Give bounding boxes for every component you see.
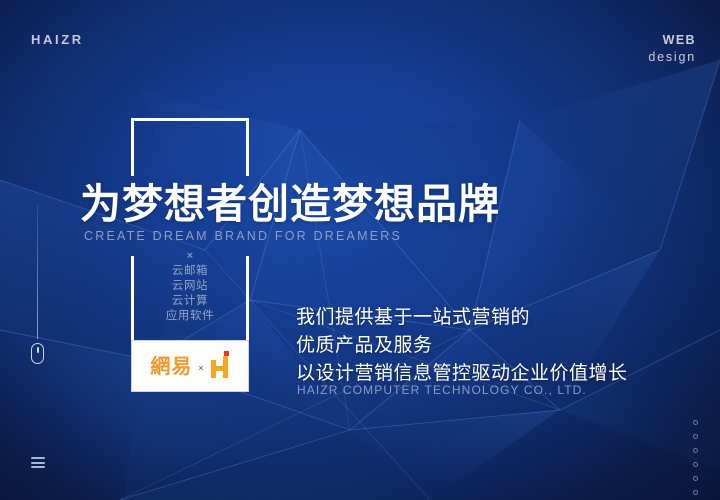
pagination-dot[interactable] (693, 490, 698, 495)
pagination-dot[interactable] (693, 476, 698, 481)
cross-divider-icon: × (182, 250, 198, 262)
frame-top-edge (131, 118, 249, 121)
netease-wordmark: 網易 (150, 356, 192, 376)
sidebar-item-cloud-site[interactable]: 云网站 (131, 279, 249, 294)
page-subtitle: CREATE DREAM BRAND FOR DREAMERS (84, 229, 402, 243)
page-title: 为梦想者创造梦想品牌 (80, 181, 500, 227)
sidebar-item-app-software[interactable]: 应用软件 (131, 309, 249, 324)
pagination-dots (693, 420, 698, 495)
pagination-dot[interactable] (693, 462, 698, 467)
header-tagline-line2: design (648, 49, 696, 66)
frame-right-edge-upper (246, 118, 249, 176)
scroll-guide-line (37, 205, 38, 339)
sidebar-item-cloud-compute[interactable]: 云计算 (131, 294, 249, 309)
site-logo[interactable]: HAIZR (31, 32, 84, 47)
frame-left-edge-upper (131, 118, 134, 176)
service-nav-list: 云邮箱 云网站 云计算 应用软件 (131, 264, 249, 324)
hero-banner: HAIZR WEB design 为梦想者创造梦想品牌 CREATE DREAM… (0, 0, 720, 500)
sidebar-item-cloud-mail[interactable]: 云邮箱 (131, 264, 249, 279)
description-line-1: 我们提供基于一站式营销的 (296, 304, 628, 332)
mouse-scroll-icon[interactable] (31, 343, 44, 364)
pagination-dot[interactable] (693, 448, 698, 453)
header-tagline-line1: WEB (648, 32, 696, 49)
pagination-dot[interactable] (693, 434, 698, 439)
haizr-h-mark-icon (210, 354, 230, 378)
description-paragraph: 我们提供基于一站式营销的 优质产品及服务 以设计营销信息管控驱动企业价值增长 (296, 304, 628, 388)
pagination-dot[interactable] (693, 420, 698, 425)
multiply-icon: × (198, 364, 203, 373)
company-name-en: HAIZR COMPUTER TECHNOLOGY CO., LTD. (297, 383, 587, 397)
partner-logo-box[interactable]: 網易 × (131, 340, 249, 392)
low-poly-background (0, 0, 720, 500)
header-tagline: WEB design (648, 32, 696, 66)
hamburger-menu-icon[interactable] (31, 457, 45, 468)
description-line-2: 优质产品及服务 (296, 332, 628, 360)
